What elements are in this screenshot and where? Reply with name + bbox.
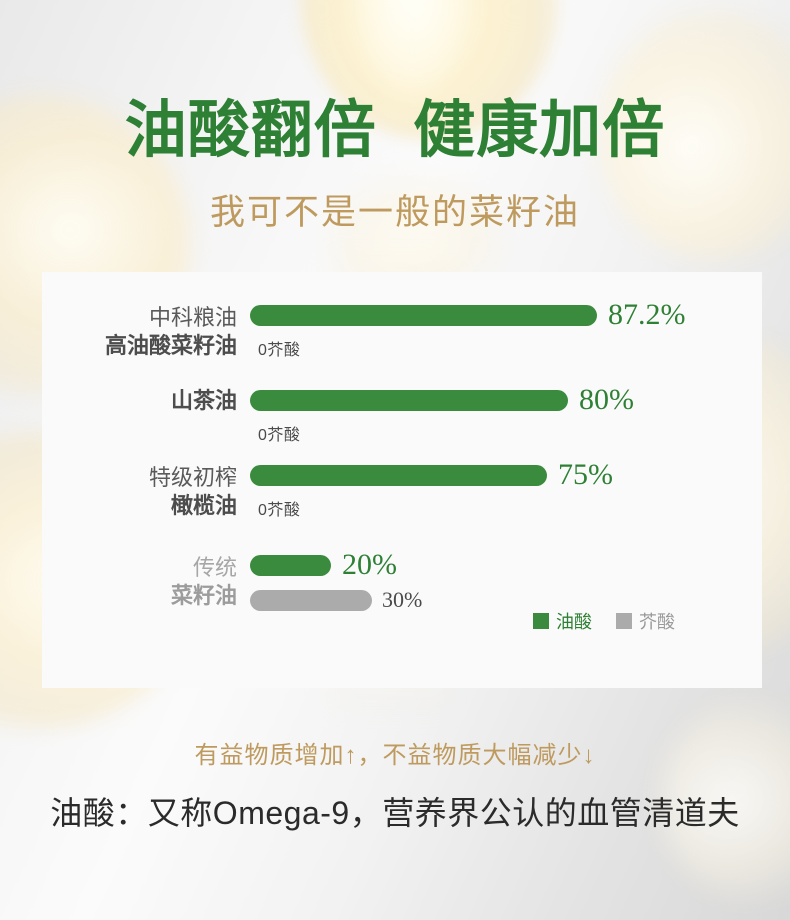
row-label-line2: 菜籽油 [42, 582, 237, 610]
bar-line-oleic: 20% [250, 552, 762, 578]
row-bars: 75% 0芥酸 [250, 462, 762, 520]
row-label-line1: 传统 [42, 554, 237, 582]
row-label-line1: 中科粮油 [42, 304, 237, 332]
row-bars: 20% 30% [250, 552, 762, 613]
promo-page: 油酸翻倍 健康加倍 我可不是一般的菜籽油 中科粮油 高油酸菜籽油 87.2% 0… [0, 0, 790, 920]
bar-line-erucic: 30% [250, 587, 762, 613]
row-label-line2: 橄榄油 [42, 492, 237, 520]
legend-label-oleic: 油酸 [556, 608, 592, 634]
row-label: 传统 菜籽油 [42, 554, 237, 610]
bar-oleic [250, 305, 597, 326]
row-label: 中科粮油 高油酸菜籽油 [42, 304, 237, 360]
bar-line-oleic: 87.2% [250, 302, 762, 328]
legend-item-erucic: 芥酸 [616, 608, 675, 634]
bar-oleic [250, 465, 547, 486]
row-label-line2: 山茶油 [42, 387, 237, 415]
bar-value-erucic: 30% [382, 589, 422, 611]
chart-legend: 油酸 芥酸 [533, 608, 675, 634]
bar-erucic [250, 590, 372, 611]
legend-swatch-green-icon [533, 613, 549, 629]
legend-item-oleic: 油酸 [533, 608, 592, 634]
row-label: 山茶油 [42, 387, 237, 415]
oil-blob-top-core [352, 0, 472, 100]
bar-value-oleic: 75% [558, 460, 613, 490]
bar-line-oleic: 75% [250, 462, 762, 488]
bar-line-oleic: 80% [250, 387, 762, 413]
bar-value-oleic: 87.2% [608, 300, 686, 330]
page-title: 油酸翻倍 健康加倍 [0, 98, 790, 163]
legend-swatch-gray-icon [616, 613, 632, 629]
bar-value-oleic: 80% [579, 385, 634, 415]
erucic-note: 0芥酸 [258, 496, 762, 520]
row-label: 特级初榨 橄榄油 [42, 464, 237, 520]
erucic-note: 0芥酸 [258, 421, 762, 445]
bar-value-oleic: 20% [342, 550, 397, 580]
row-label-line1: 特级初榨 [42, 464, 237, 492]
row-bars: 80% 0芥酸 [250, 387, 762, 445]
erucic-note: 0芥酸 [258, 336, 762, 360]
bar-oleic [250, 555, 331, 576]
oleic-tagline: 油酸：又称Omega-9，营养界公认的血管清道夫 [0, 788, 790, 834]
comparison-chart-panel: 中科粮油 高油酸菜籽油 87.2% 0芥酸 山茶油 [42, 272, 762, 688]
legend-label-erucic: 芥酸 [639, 608, 675, 634]
benefit-note: 有益物质增加↑，不益物质大幅减少↓ [0, 735, 790, 770]
page-subtitle: 我可不是一般的菜籽油 [0, 192, 790, 234]
row-label-line2: 高油酸菜籽油 [42, 332, 237, 360]
bar-oleic [250, 390, 568, 411]
row-bars: 87.2% 0芥酸 [250, 302, 762, 360]
